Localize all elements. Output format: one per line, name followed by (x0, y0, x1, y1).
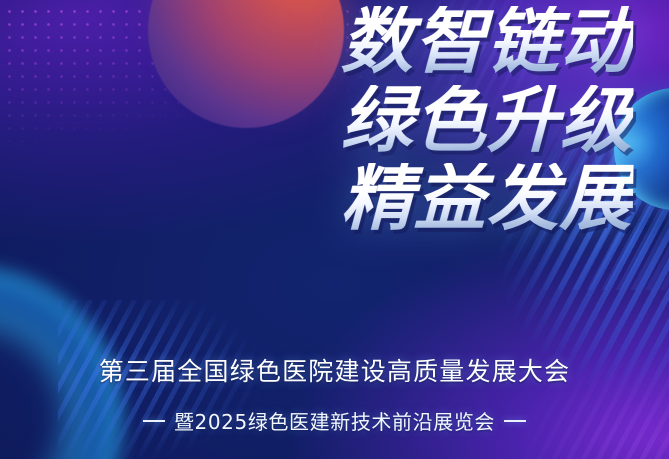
em-dash-right-icon (504, 420, 526, 422)
exhibition-subtitle-row: 暨2025绿色医建新技术前沿展览会 (0, 406, 669, 435)
poster-content: 数智链动 绿色升级 精益发展 第三届全国绿色医院建设高质量发展大会 暨2025绿… (0, 0, 669, 459)
headline-block: 数智链动 绿色升级 精益发展 (341, 6, 633, 234)
em-dash-left-icon (143, 420, 165, 422)
headline-line-2: 绿色升级 (340, 85, 633, 156)
subtitle-block: 第三届全国绿色医院建设高质量发展大会 暨2025绿色医建新技术前沿展览会 (0, 352, 669, 435)
headline-line-3: 精益发展 (340, 163, 633, 234)
conference-poster: 数智链动 绿色升级 精益发展 第三届全国绿色医院建设高质量发展大会 暨2025绿… (0, 0, 669, 459)
exhibition-subtitle: 暨2025绿色医建新技术前沿展览会 (174, 406, 495, 435)
headline-line-1: 数智链动 (340, 6, 633, 77)
conference-title: 第三届全国绿色医院建设高质量发展大会 (0, 352, 669, 388)
